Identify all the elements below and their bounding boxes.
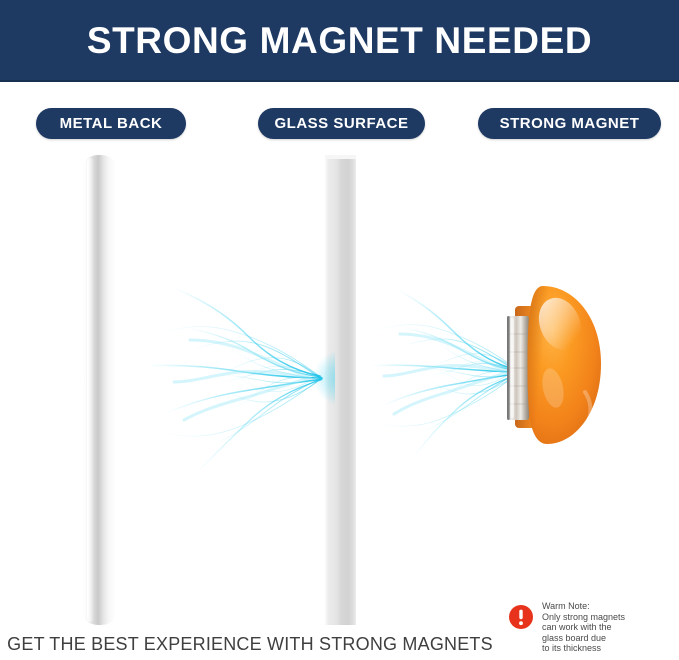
- magnetic-field-left-icon: [140, 278, 335, 478]
- warm-note-title: Warm Note:: [542, 601, 625, 612]
- infographic-page: STRONG MAGNET NEEDED METAL BACK GLASS SU…: [0, 0, 679, 660]
- label-pill-strong-magnet-text: STRONG MAGNET: [500, 115, 640, 132]
- metal-back-bar: [85, 155, 114, 625]
- warm-note-line-1: Only strong magnets: [542, 612, 625, 623]
- warm-note-text: Warm Note: Only strong magnets can work …: [542, 601, 625, 654]
- warm-note-line-3: glass board due: [542, 633, 625, 644]
- header-banner: STRONG MAGNET NEEDED: [0, 0, 679, 82]
- glass-surface-bar: [325, 155, 356, 625]
- page-title: STRONG MAGNET NEEDED: [87, 22, 592, 59]
- orange-magnet-illustration: [497, 272, 609, 457]
- warm-note-line-2: can work with the: [542, 622, 625, 633]
- warm-note: Warm Note: Only strong magnets can work …: [508, 601, 673, 654]
- label-pill-glass-surface: GLASS SURFACE: [258, 108, 425, 139]
- bottom-caption: GET THE BEST EXPERIENCE WITH STRONG MAGN…: [0, 634, 500, 655]
- exclamation-icon: [508, 604, 534, 630]
- warm-note-line-4: to its thickness: [542, 643, 625, 654]
- label-pill-metal-back: METAL BACK: [36, 108, 186, 139]
- label-pill-strong-magnet: STRONG MAGNET: [478, 108, 661, 139]
- label-pill-metal-back-text: METAL BACK: [60, 115, 163, 132]
- label-pill-glass-surface-text: GLASS SURFACE: [274, 115, 408, 132]
